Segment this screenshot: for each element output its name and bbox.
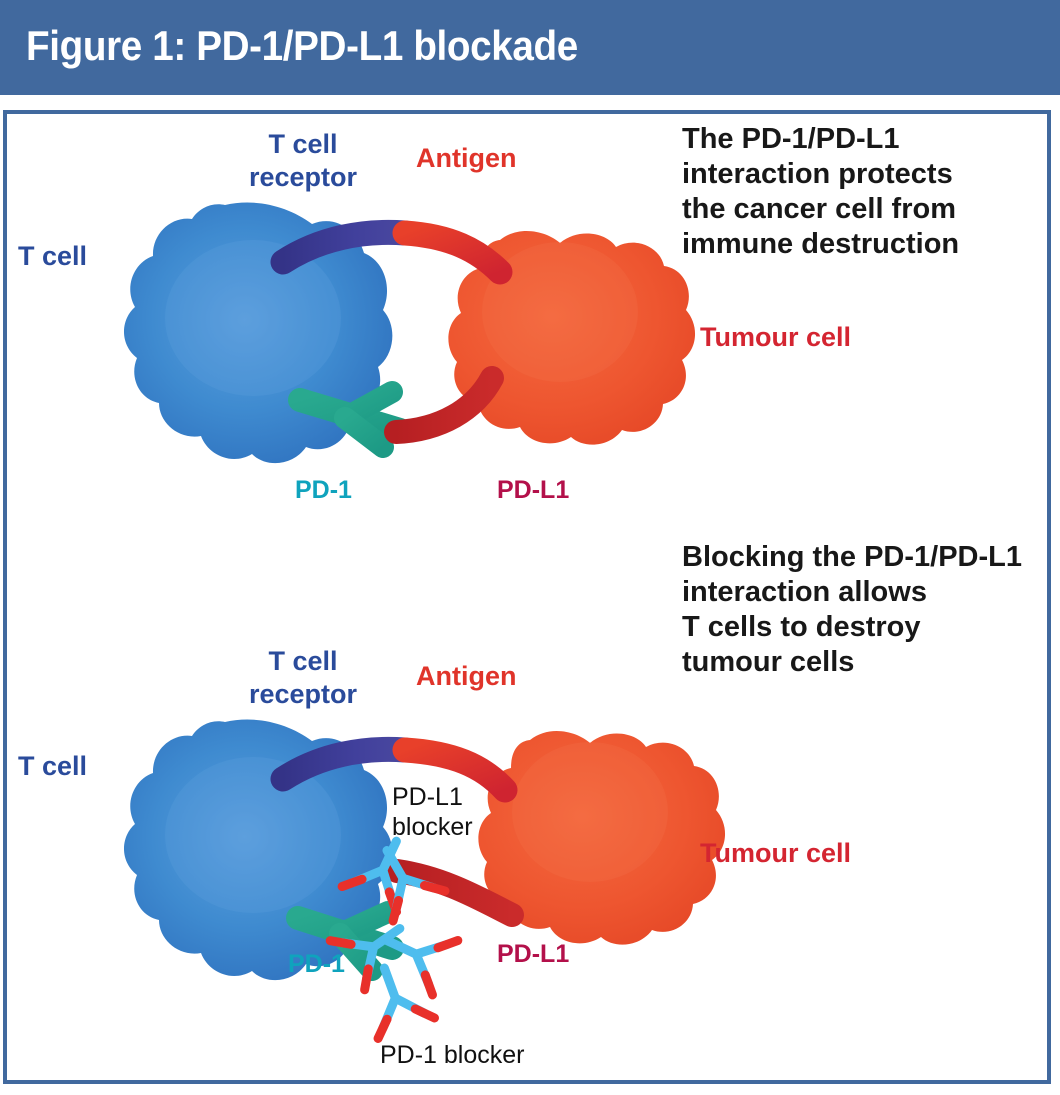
top-label-tumour-cell: Tumour cell	[700, 322, 851, 353]
bottom-label-pd1: PD-1	[288, 950, 345, 979]
figure-title: Figure 1: PD-1/PD-L1 blockade	[26, 17, 578, 75]
top-panel-caption: The PD-1/PD-L1 interaction protects the …	[682, 122, 1027, 262]
top-label-pdl1: PD-L1	[497, 476, 569, 505]
pdl1-blocker-label: PD-L1 blocker	[392, 782, 473, 842]
pd1-blocker-label: PD-1 blocker	[380, 1040, 525, 1070]
bottom-label-t-cell: T cell	[18, 750, 87, 783]
figure-root: Figure 1: PD-1/PD-L1 blockade	[0, 0, 1060, 1095]
top-label-t-cell-receptor: T cell receptor	[238, 128, 368, 194]
top-label-pd1: PD-1	[295, 476, 352, 505]
bottom-label-pdl1: PD-L1	[497, 940, 569, 969]
bottom-panel-caption: Blocking the PD-1/PD-L1 interaction allo…	[682, 540, 1032, 680]
top-label-t-cell: T cell	[18, 240, 87, 273]
bottom-label-tumour-cell: Tumour cell	[700, 838, 851, 869]
top-label-antigen: Antigen	[416, 142, 517, 175]
bottom-label-antigen: Antigen	[416, 660, 517, 693]
bottom-label-t-cell-receptor: T cell receptor	[238, 645, 368, 711]
